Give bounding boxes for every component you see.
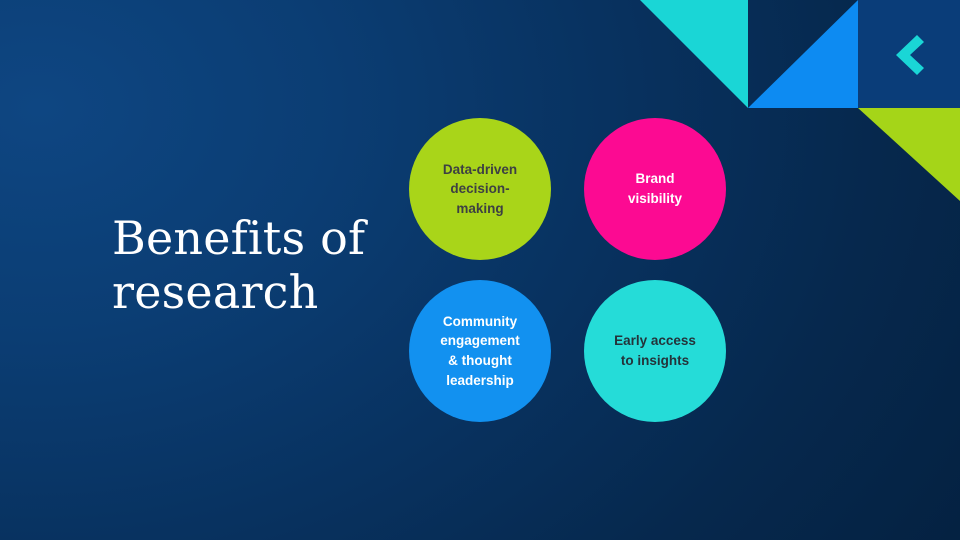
benefit-label: Community engagement & thought leadershi…	[440, 312, 520, 390]
benefit-circle-community-engagement-thought-leadership[interactable]: Community engagement & thought leadershi…	[409, 280, 551, 422]
benefit-circle-brand-visibility[interactable]: Brand visibility	[584, 118, 726, 260]
slide-canvas: Benefits of research Data-driven decisio…	[0, 0, 960, 540]
benefit-label-line: engagement	[440, 331, 520, 351]
benefit-label-line: leadership	[440, 371, 520, 391]
benefit-label: Data-driven decision- making	[443, 160, 517, 219]
benefit-label-line: to insights	[614, 351, 696, 371]
benefit-label-line: Data-driven	[443, 160, 517, 180]
benefit-label-line: decision-	[443, 179, 517, 199]
blue-triangle	[748, 0, 858, 108]
navy-panel	[858, 0, 960, 108]
cyan-triangle	[640, 0, 748, 108]
green-triangle	[858, 108, 960, 201]
benefit-label-line: Community	[440, 312, 520, 332]
benefit-label-line: Brand	[628, 169, 682, 189]
chevron-left-icon	[886, 32, 928, 78]
benefit-label-line: Early access	[614, 331, 696, 351]
page-title: Benefits of research	[112, 211, 412, 320]
benefit-label-line: making	[443, 199, 517, 219]
benefit-label-line: visibility	[628, 189, 682, 209]
benefit-label-line: & thought	[440, 351, 520, 371]
benefit-circle-data-driven-decision-making[interactable]: Data-driven decision- making	[409, 118, 551, 260]
benefit-label: Brand visibility	[628, 169, 682, 208]
benefit-circle-early-access-to-insights[interactable]: Early access to insights	[584, 280, 726, 422]
benefit-label: Early access to insights	[614, 331, 696, 370]
